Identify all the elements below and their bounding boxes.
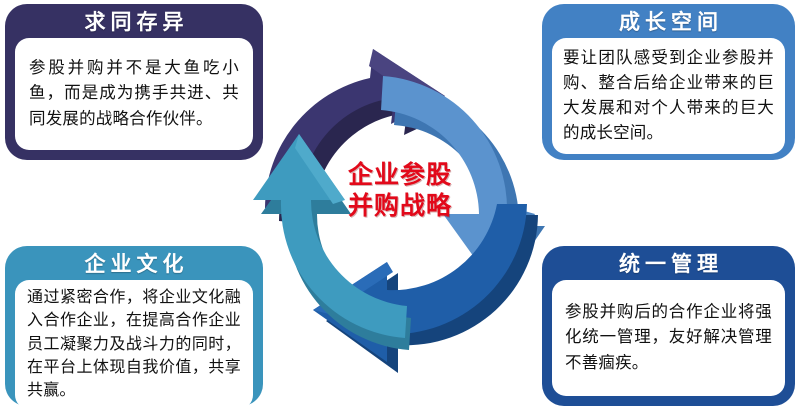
diagram-canvas: 求同存异 参股并购并不是大鱼吃小鱼，而是成为携手共进、共同发展的战略合作伙伴。 … xyxy=(0,0,800,408)
card-bottom-right-body: 参股并购后的合作企业将强化统一管理，友好解决管理不善痼疾。 xyxy=(552,280,785,396)
cycle-arrows-graphic xyxy=(243,22,557,390)
card-top-right[interactable]: 成长空间 要让团队感受到企业参股并购、整合后给企业带来的巨大发展和对个人带来的巨… xyxy=(542,4,795,160)
card-bottom-left-title: 企业文化 xyxy=(15,250,253,280)
card-bottom-left-body: 通过紧密合作，将企业文化融入合作企业，在提高合作企业员工凝聚力及战斗力的同时，在… xyxy=(15,280,253,408)
card-top-right-body: 要让团队感受到企业参股并购、整合后给企业带来的巨大发展和对个人带来的巨大的成长空… xyxy=(552,38,785,154)
card-top-left-title: 求同存异 xyxy=(15,8,253,38)
card-top-left-body: 参股并购并不是大鱼吃小鱼，而是成为携手共进、共同发展的战略合作伙伴。 xyxy=(15,38,253,150)
card-bottom-right[interactable]: 统一管理 参股并购后的合作企业将强化统一管理，友好解决管理不善痼疾。 xyxy=(542,246,795,406)
card-bottom-right-title: 统一管理 xyxy=(552,250,785,280)
card-top-left[interactable]: 求同存异 参股并购并不是大鱼吃小鱼，而是成为携手共进、共同发展的战略合作伙伴。 xyxy=(5,4,263,160)
card-top-right-title: 成长空间 xyxy=(552,8,785,38)
arrow-left-icon xyxy=(253,134,411,350)
card-bottom-left[interactable]: 企业文化 通过紧密合作，将企业文化融入合作企业，在提高合作企业员工凝聚力及战斗力… xyxy=(5,246,263,406)
